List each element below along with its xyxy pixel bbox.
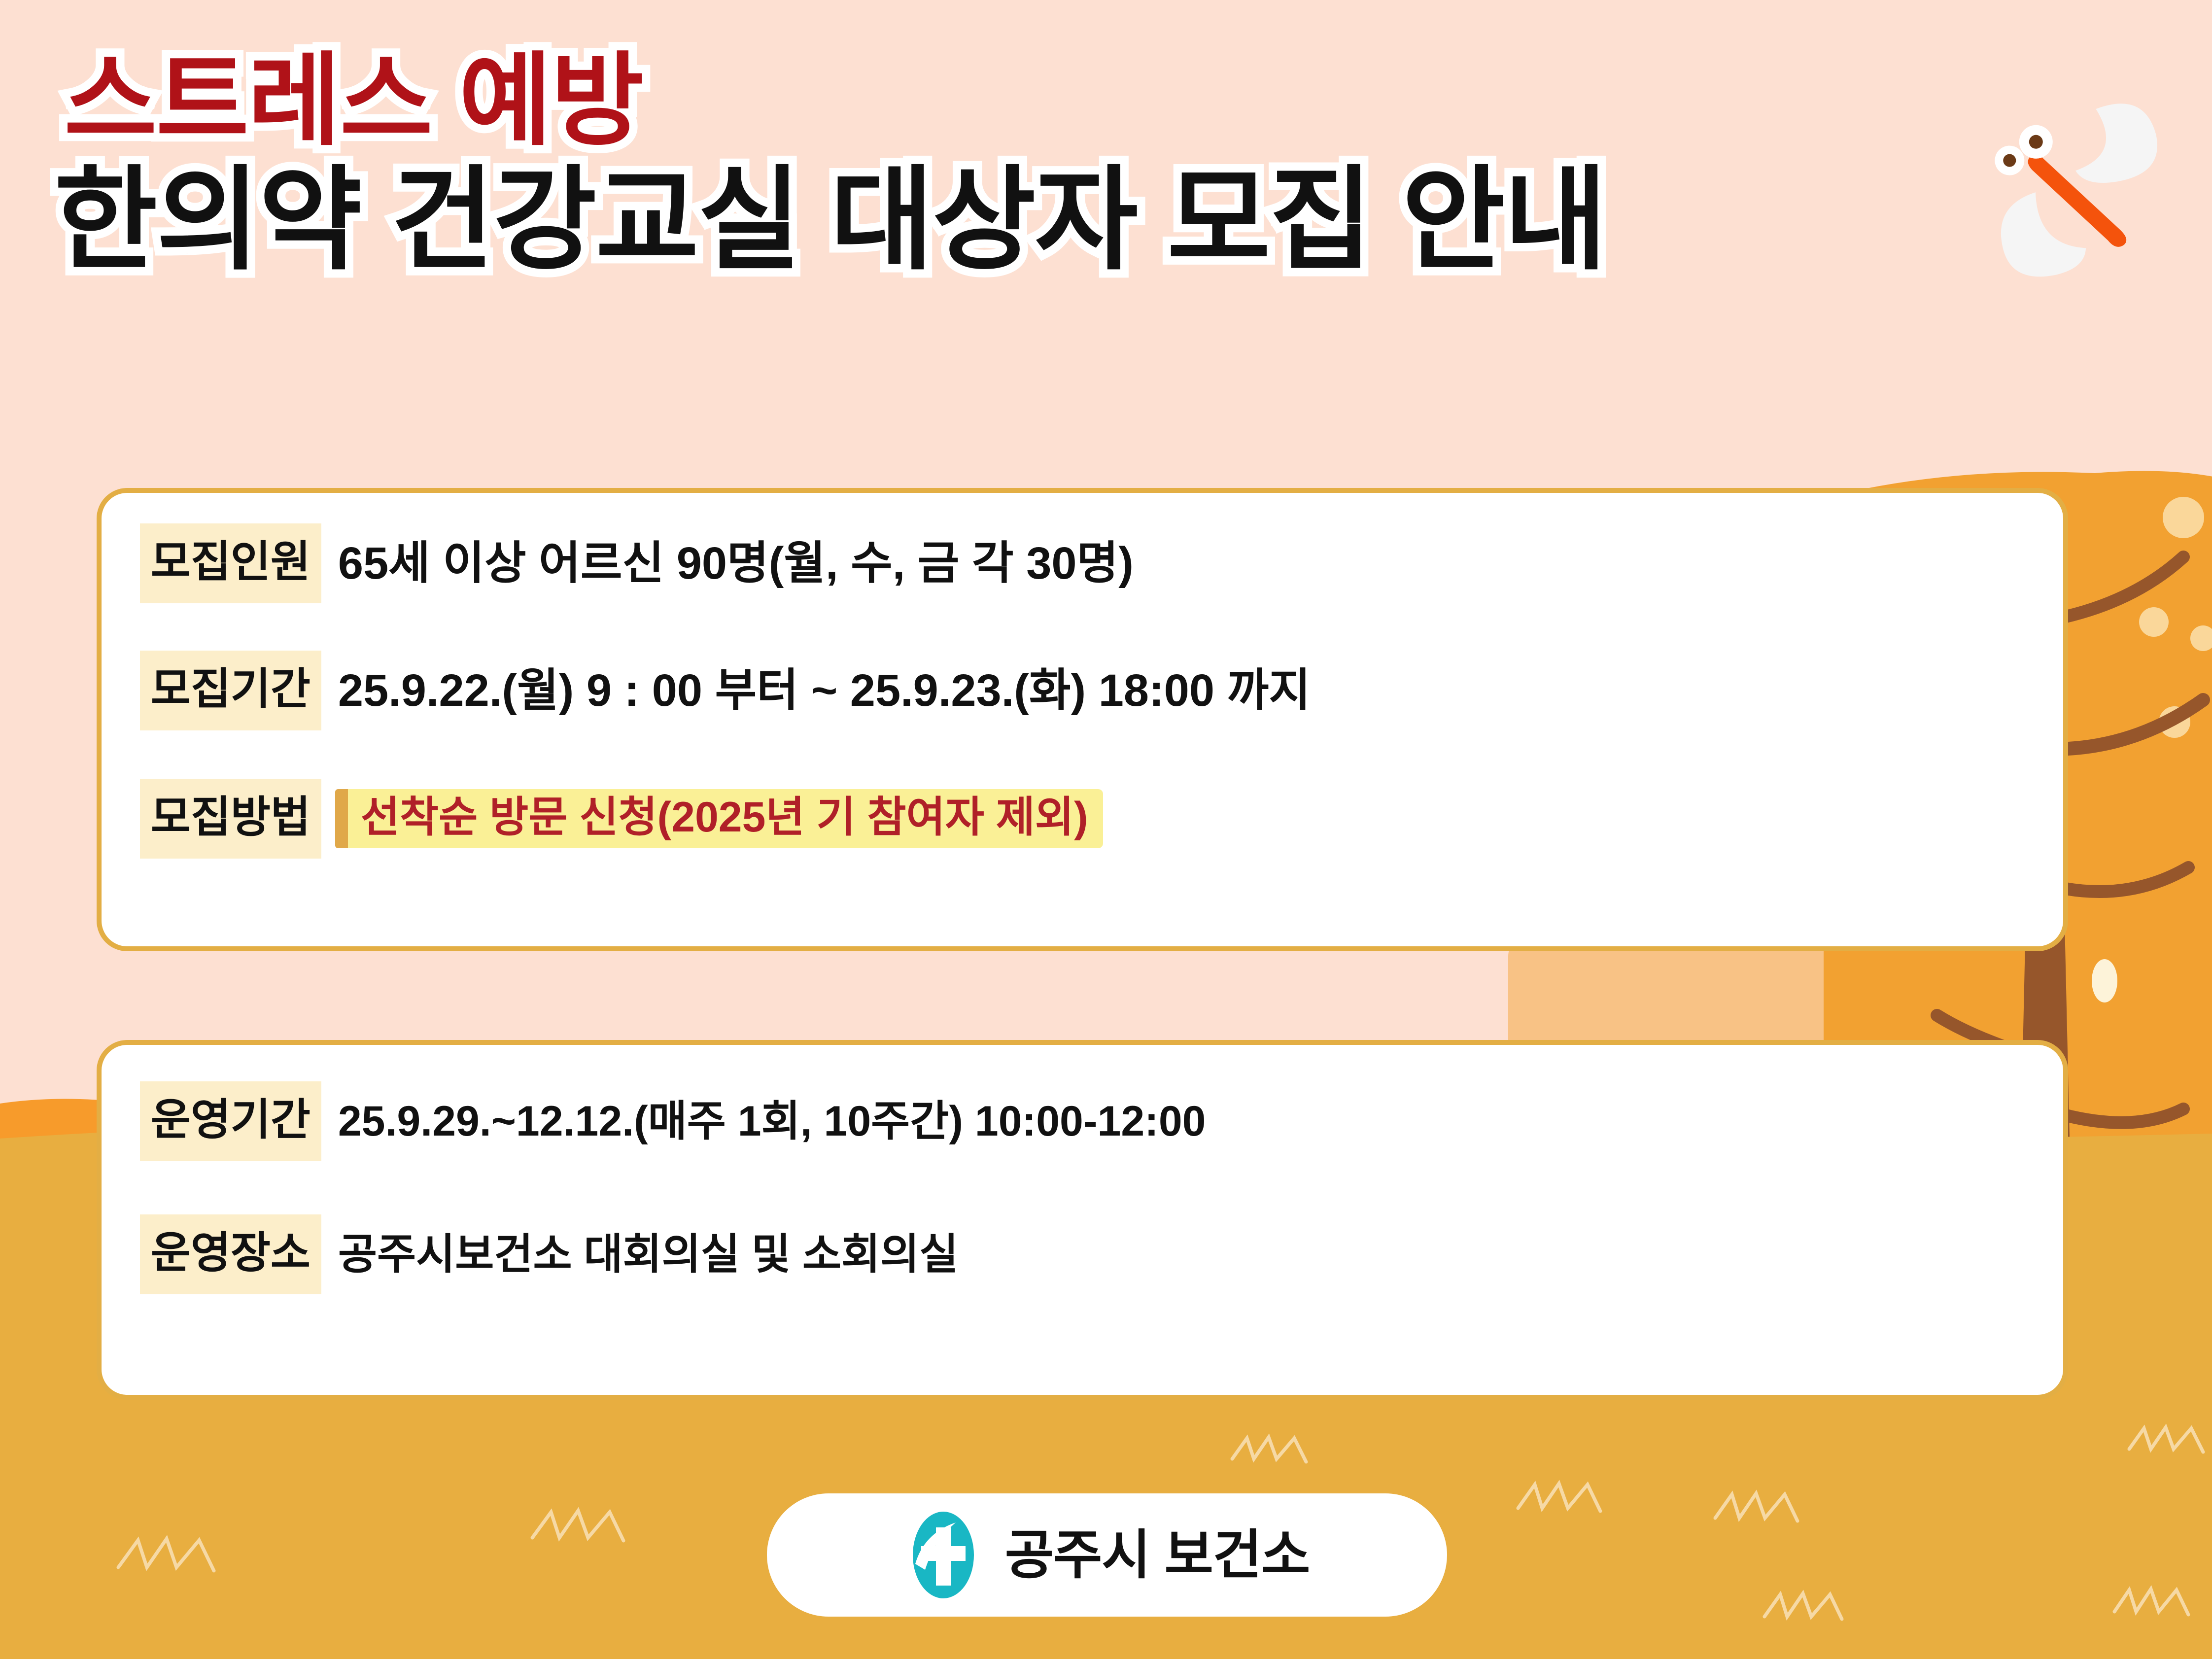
row-value-recruit-method: 선착순 방문 신청(2025년 기 참여자 제외) xyxy=(361,796,1088,838)
recruitment-info-card: 모집인원 65세 이상 어르신 90명(월, 수, 금 각 30명) 모집기간 … xyxy=(97,488,2068,951)
table-row: 모집방법 선착순 방문 신청(2025년 기 참여자 제외) xyxy=(140,779,1103,859)
health-center-cross-icon xyxy=(904,1511,982,1599)
row-value-operate-place: 공주시보건소 대회의실 및 소회의실 xyxy=(338,1233,958,1276)
footer-organization-badge: 공주시 보건소 xyxy=(767,1493,1447,1617)
row-value-recruit-period: 25.9.22.(월) 9 : 00 부터 ~ 25.9.23.(화) 18:0… xyxy=(338,668,1311,713)
footer-organization-name: 공주시 보건소 xyxy=(1005,1528,1310,1582)
row-label-recruit-period: 모집기간 xyxy=(140,651,321,730)
row-label-operate-place: 운영장소 xyxy=(140,1214,321,1294)
row-value-operate-period: 25.9.29.~12.12.(매주 1회, 10주간) 10:00-12:00 xyxy=(338,1100,1206,1142)
table-row: 모집기간 25.9.22.(월) 9 : 00 부터 ~ 25.9.23.(화)… xyxy=(140,651,1311,730)
table-row: 모집인원 65세 이상 어르신 90명(월, 수, 금 각 30명) xyxy=(140,523,1134,603)
table-row: 운영장소 공주시보건소 대회의실 및 소회의실 xyxy=(140,1214,958,1294)
highlight-badge: 선착순 방문 신청(2025년 기 참여자 제외) xyxy=(335,789,1103,848)
row-label-recruit-method: 모집방법 xyxy=(140,779,321,859)
row-label-operate-period: 운영기간 xyxy=(140,1081,321,1161)
title-line-stress-prevention: 스트레스 예방 xyxy=(64,49,1976,152)
title-line-program-name: 한의약 건강교실 대상자 모집 안내 xyxy=(54,163,1976,278)
operation-info-card: 운영기간 25.9.29.~12.12.(매주 1회, 10주간) 10:00-… xyxy=(97,1040,2068,1400)
row-label-recruit-count: 모집인원 xyxy=(140,523,321,603)
page-title: 스트레스 예방 한의약 건강교실 대상자 모집 안내 xyxy=(54,49,1976,278)
table-row: 운영기간 25.9.29.~12.12.(매주 1회, 10주간) 10:00-… xyxy=(140,1081,1206,1161)
row-value-recruit-count: 65세 이상 어르신 90명(월, 수, 금 각 30명) xyxy=(338,541,1134,586)
